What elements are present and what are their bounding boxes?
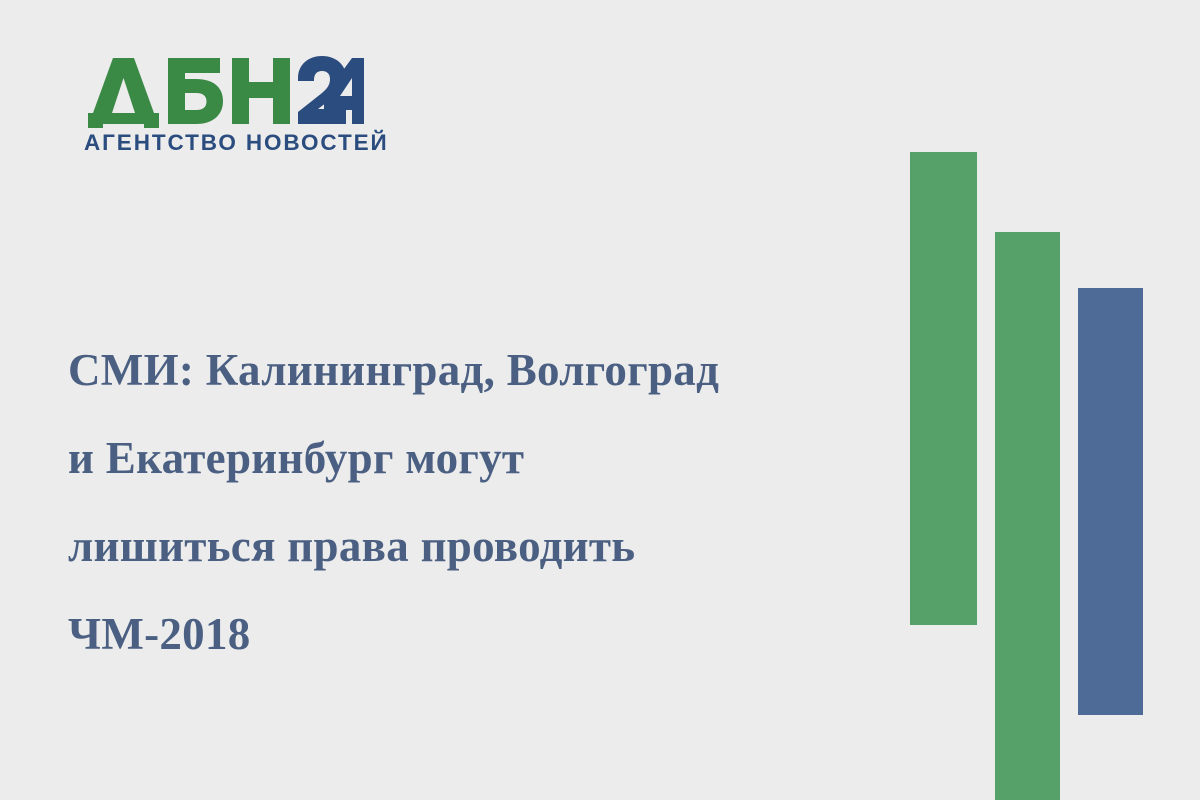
headline-line-2: и Екатеринбург могут: [68, 414, 868, 502]
headline-line-1: СМИ: Калининград, Волгоград: [68, 326, 868, 414]
logo-letter-d: [88, 58, 159, 128]
headline-line-4: ЧМ-2018: [68, 590, 868, 678]
logo-letter-b: [168, 58, 223, 124]
news-card: АГЕНТСТВО НОВОСТЕЙ СМИ: Калининград, Вол…: [0, 0, 1200, 800]
site-logo[interactable]: АГЕНТСТВО НОВОСТЕЙ: [84, 56, 384, 155]
logo-subtitle: АГЕНТСТВО НОВОСТЕЙ: [84, 132, 384, 155]
chart-bar-1: [910, 152, 977, 625]
headline: СМИ: Калининград, Волгоград и Екатеринбу…: [68, 326, 868, 678]
chart-bar-3: [1078, 288, 1143, 715]
headline-line-3: лишиться права проводить: [68, 502, 868, 590]
logo-letter-n: [232, 58, 290, 124]
logo-wordmark-abn24: [84, 56, 364, 128]
chart-bar-2: [995, 232, 1060, 800]
